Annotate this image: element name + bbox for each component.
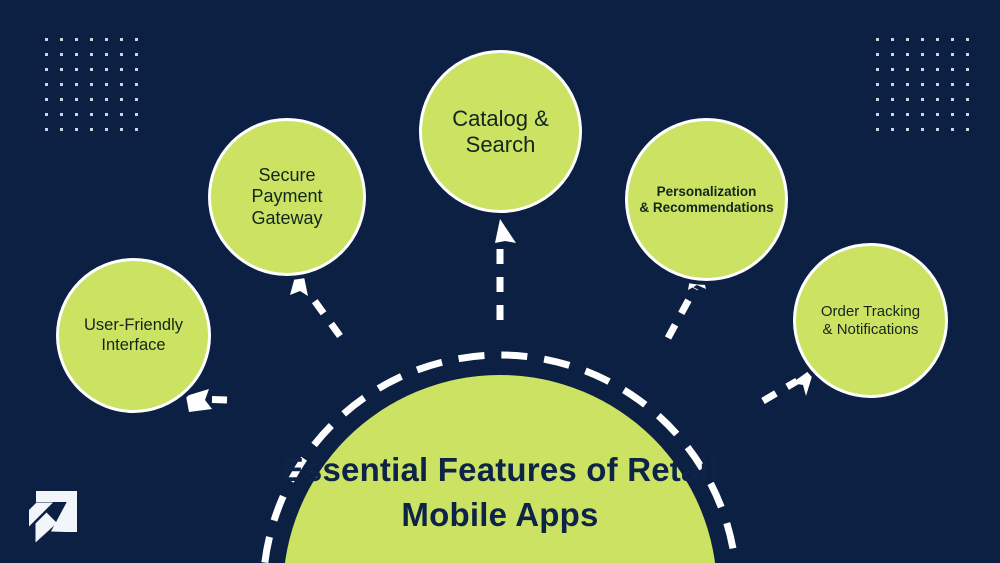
dot-grid-right-icon <box>876 38 969 131</box>
infographic-canvas: User-Friendly Interface Secure Payment G… <box>0 0 1000 563</box>
dot-grid-left-icon <box>45 38 138 131</box>
page-title: Essential Features of Retail Mobile Apps <box>230 448 770 537</box>
feature-bubble-order-tracking-notifications[interactable]: Order Tracking & Notifications <box>793 243 948 398</box>
connector-to-personalization-recommendations <box>668 288 695 338</box>
feature-label: Catalog & Search <box>452 106 549 158</box>
connector-to-secure-payment-gateway <box>311 296 340 336</box>
feature-label: Order Tracking & Notifications <box>821 303 920 338</box>
feature-bubble-catalog-and-search[interactable]: Catalog & Search <box>419 50 582 213</box>
arrowhead-catalog-and-search-icon <box>495 219 516 243</box>
feature-label: Secure Payment Gateway <box>251 165 322 229</box>
feature-bubble-secure-payment-gateway[interactable]: Secure Payment Gateway <box>208 118 366 276</box>
feature-bubble-personalization-recommendations[interactable]: Personalization & Recommendations <box>625 118 788 281</box>
feature-label: Personalization & Recommendations <box>639 184 773 216</box>
arrowhead-order-tracking-icon <box>792 370 813 396</box>
connector-to-order-tracking-notifications <box>763 381 797 401</box>
arrowhead-user-friendly-interface-icon <box>186 389 212 412</box>
feature-bubble-user-friendly-interface[interactable]: User-Friendly Interface <box>56 258 211 413</box>
arrow-up-right-logo <box>22 487 84 549</box>
feature-label: User-Friendly Interface <box>84 316 183 355</box>
